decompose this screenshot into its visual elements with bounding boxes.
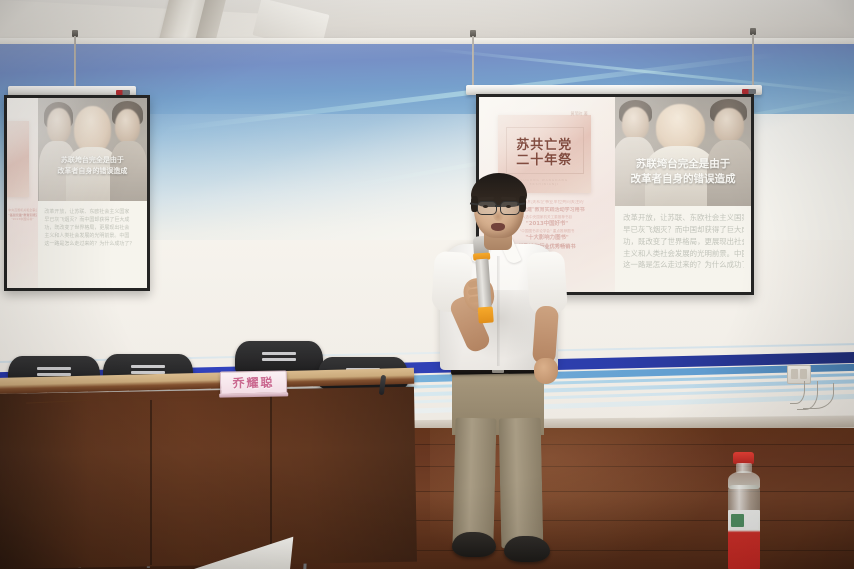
left-slide-book-column: 中央直属机关和企事业单位共同关注的 "基层党建"教育实践活动学习用书 "2013… (7, 98, 38, 288)
eye-left (483, 205, 488, 208)
chair-backrest-slot (262, 358, 296, 361)
trouser-leg-right (499, 418, 544, 549)
forearm-lowered (532, 305, 559, 364)
left-slide-photo-column: 苏联垮台完全是由于 改革者自身的错误造成 改革开放，让苏联、东欧社会主义国家 早… (38, 98, 147, 288)
book-cover (7, 121, 29, 197)
left-projection-screen: 中央直属机关和企事业单位共同关注的 "基层党建"教育实践活动学习用书 "2013… (4, 95, 150, 291)
photo-person-face (47, 108, 71, 143)
mic-body (475, 259, 491, 310)
shoe-right (504, 536, 550, 562)
chair-backrest-slot (262, 352, 296, 355)
table-panel-seam (270, 396, 272, 561)
left-slide-promo-text: 中央直属机关和企事业单位共同关注的 "基层党建"教育实践活动学习用书 "2013… (8, 208, 36, 222)
slide-photo-strip: 苏联垮台完全是由于 改革者自身的错误造成 (615, 97, 751, 206)
slide-caption: 苏联垮台完全是由于 改革者自身的错误造成 (620, 157, 745, 187)
outlet-plug (791, 369, 798, 379)
table-front-panel (0, 387, 417, 569)
left-screen-surface: 中央直属机关和企事业单位共同关注的 "基层党建"教育实践活动学习用书 "2013… (7, 98, 147, 288)
slide-caption: 苏联垮台完全是由于 改革者自身的错误造成 (42, 155, 142, 175)
mouth-open-speaking (491, 223, 505, 231)
slide-body-paragraph: 改革开放，让苏联、东欧社会主义国家 早已灰飞烟灭？而中国却获得了巨大成 功，既改… (623, 212, 744, 271)
name-placard: 乔耀聪 (220, 370, 287, 394)
photo-person-face (622, 107, 649, 140)
screen-hanger-rod (472, 36, 474, 89)
chair-backrest-slot (131, 365, 165, 368)
hand-lowered (534, 358, 558, 384)
photo-person-face (714, 108, 744, 142)
bottle-label-green-mark (731, 514, 744, 527)
slide-photo-strip: 苏联垮台完全是由于 改革者自身的错误造成 (38, 98, 147, 201)
trouser-leg-left (452, 418, 496, 547)
shoe-left (452, 532, 496, 557)
water-bottle[interactable] (724, 452, 764, 569)
slide-photo-column: 苏联垮台完全是由于 改革者自身的错误造成 改革开放，让苏联、东欧社会主义国家 早… (615, 97, 751, 292)
photo-person-face-center (656, 104, 705, 152)
book-title: 苏共亡党 二十年祭 (516, 139, 572, 169)
book-author: 黄苇町 著 (571, 111, 588, 117)
conference-table[interactable] (0, 378, 414, 569)
mic-band-bottom (478, 306, 494, 323)
nose (493, 210, 504, 221)
screen-hanger-rod (752, 34, 754, 89)
table-panel-seam (150, 400, 152, 565)
left-slide: 中央直属机关和企事业单位共同关注的 "基层党建"教育实践活动学习用书 "2013… (7, 98, 147, 288)
shirt-placket (497, 256, 500, 366)
photo-scene: 中央直属机关和企事业单位共同关注的 "基层党建"教育实践活动学习用书 "2013… (0, 0, 854, 569)
photo-person-face (115, 109, 140, 143)
screen-hanger-rod (74, 36, 76, 88)
bottle-label-strip (746, 513, 758, 529)
speaker (400, 180, 600, 569)
slide-body-paragraph: 改革开放，让苏联、东欧社会主义国家 早已灰飞烟灭？而中国却获得了巨大成 功，既改… (44, 208, 141, 248)
eyeglass-bridge (495, 205, 500, 207)
chair-backrest-slot (37, 367, 71, 370)
placard-name-text: 乔耀聪 (232, 374, 274, 392)
outlet-plug (800, 369, 807, 379)
eye-right (506, 205, 511, 208)
